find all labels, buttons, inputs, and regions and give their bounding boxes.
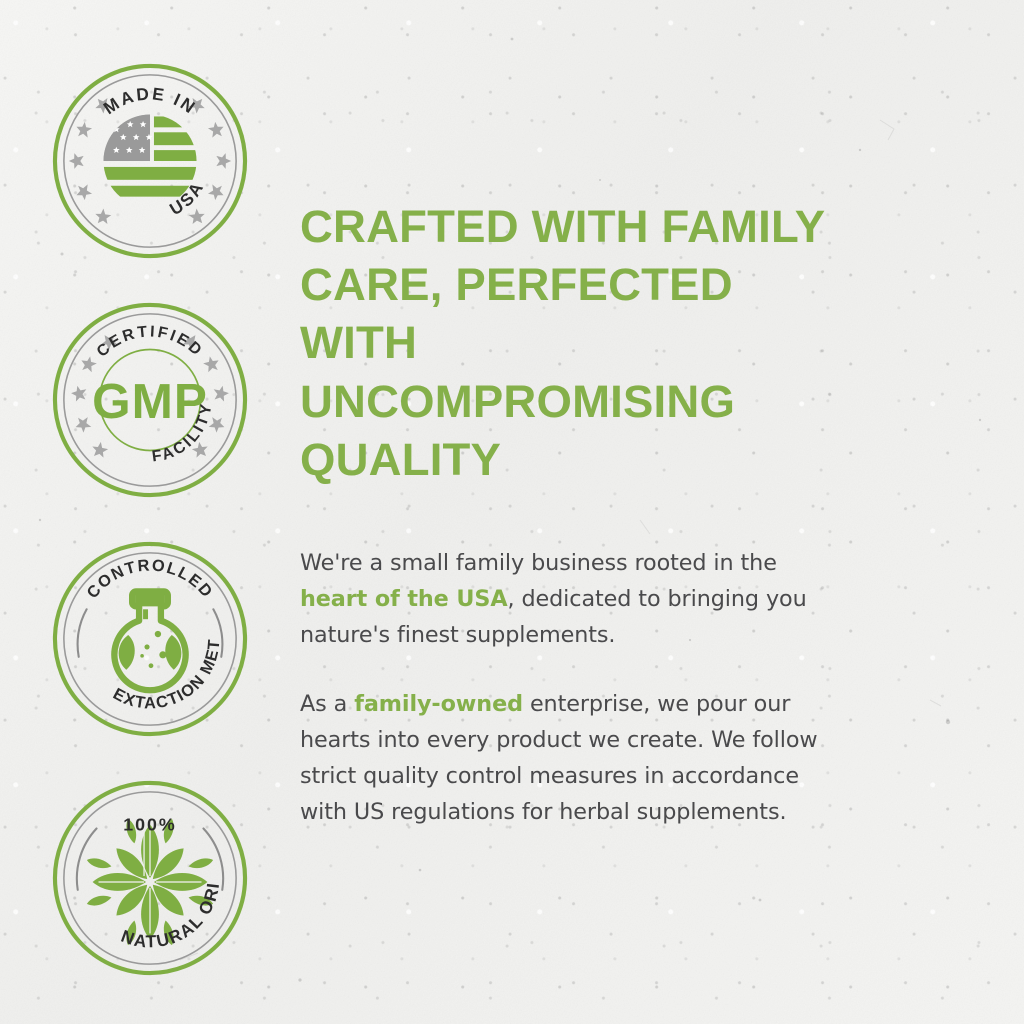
- badge-made-in-usa: MADE IN USA: [51, 62, 249, 260]
- trust-badges-column: MADE IN USA: [0, 0, 300, 977]
- body-paragraph-1: We're a small family business rooted in …: [300, 545, 820, 653]
- highlighted-phrase: heart of the USA: [300, 586, 507, 612]
- body-paragraph-2: As a family-owned enterprise, we pour ou…: [300, 686, 830, 830]
- badge-top-text: 100%: [123, 814, 176, 834]
- paragraph-text: We're a small family business rooted in …: [300, 550, 777, 576]
- copy-column: CRAFTED WITH FAMILY CARE, PERFECTED WITH…: [300, 0, 1024, 830]
- page-title: CRAFTED WITH FAMILY CARE, PERFECTED WITH…: [300, 198, 860, 489]
- flask-leaf-icon: [114, 590, 185, 691]
- badge-top-text: CERTIFIED: [94, 323, 207, 360]
- paragraph-text: As a: [300, 691, 354, 717]
- badge-bottom-text: USA: [166, 177, 208, 219]
- badge-100-natural-origin: 100% NATURAL ORIGIN: [51, 779, 249, 977]
- usa-flag-circle-icon: [101, 114, 200, 196]
- badge-gmp-certified-facility: GMP CERTIFIED FACILITY: [51, 301, 249, 499]
- highlighted-phrase: family-owned: [354, 691, 523, 717]
- badge-top-text: MADE IN: [100, 83, 201, 118]
- badge-controlled-extaction-method: CONTROLLED EXTACTION METHOD: [51, 540, 249, 738]
- gmp-center-text: GMP: [92, 374, 208, 429]
- badge-side-arcs: [78, 609, 223, 657]
